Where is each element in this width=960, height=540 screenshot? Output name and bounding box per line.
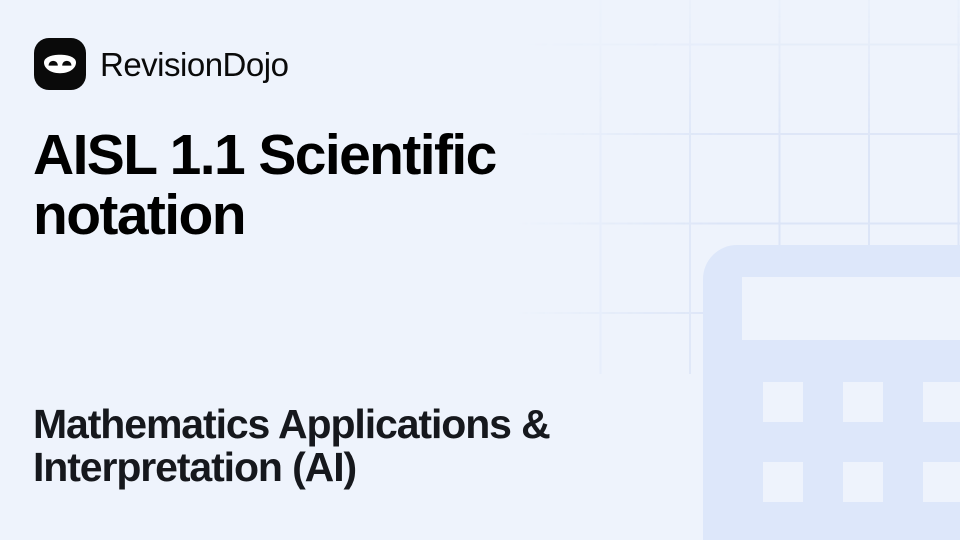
brand-name: RevisionDojo (100, 48, 288, 81)
calculator-key (923, 462, 960, 502)
subject-label: Mathematics Applications & Interpretatio… (33, 403, 683, 490)
calculator-key (923, 382, 960, 422)
slide-content: RevisionDojo AISL 1.1 Scientific notatio… (0, 0, 700, 540)
calculator-watermark-icon (703, 245, 960, 540)
calculator-key (763, 382, 803, 422)
slide-canvas: RevisionDojo AISL 1.1 Scientific notatio… (0, 0, 960, 540)
calculator-key (843, 462, 883, 502)
brand-lockup: RevisionDojo (34, 38, 288, 90)
page-title: AISL 1.1 Scientific notation (33, 125, 673, 246)
ninja-mask-logo-icon (34, 38, 86, 90)
calculator-screen (742, 277, 960, 340)
calculator-key (763, 462, 803, 502)
calculator-key (843, 382, 883, 422)
